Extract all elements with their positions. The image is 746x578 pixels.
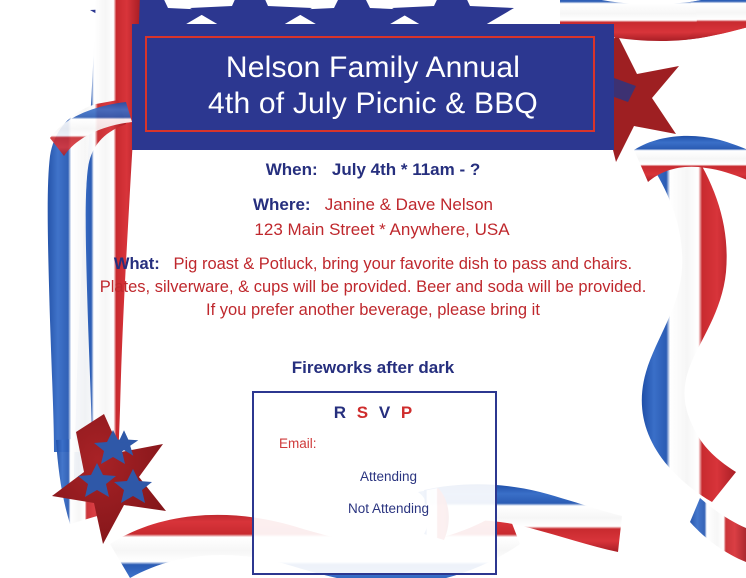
rsvp-letter-s: S: [357, 403, 371, 422]
rsvp-letter-r: R: [334, 403, 349, 422]
title-banner: Nelson Family Annual 4th of July Picnic …: [132, 24, 614, 150]
rsvp-box: R S V P Email: Attending Not Attending: [252, 391, 497, 575]
patriotic-ribbon-lower-left: [56, 438, 104, 524]
rsvp-option-not-attending[interactable]: Not Attending: [254, 501, 495, 516]
when-line: When: July 4th * 11am - ?: [0, 160, 746, 180]
when-value: July 4th * 11am - ?: [332, 160, 480, 179]
invitation-page: Nelson Family Annual 4th of July Picnic …: [0, 0, 746, 578]
banner-title-line2: 4th of July Picnic & BBQ: [132, 86, 614, 122]
what-label: What:: [114, 255, 160, 273]
rsvp-letter-v: V: [379, 403, 393, 422]
rsvp-letter-p: P: [401, 403, 415, 422]
banner-title: Nelson Family Annual 4th of July Picnic …: [132, 50, 614, 122]
fireworks-line: Fireworks after dark: [0, 358, 746, 378]
rsvp-title: R S V P: [254, 403, 495, 423]
where-label: Where:: [253, 195, 311, 214]
red-star-with-blue-stars: [52, 414, 166, 544]
where-line-1: Where: Janine & Dave Nelson: [0, 192, 746, 217]
when-label: When:: [266, 160, 318, 179]
banner-title-line1: Nelson Family Annual: [132, 50, 614, 86]
what-block: What: Pig roast & Potluck, bring your fa…: [96, 253, 650, 322]
what-value: Pig roast & Potluck, bring your favorite…: [100, 255, 647, 319]
where-address: 123 Main Street * Anywhere, USA: [0, 217, 746, 242]
where-block: Where: Janine & Dave Nelson 123 Main Str…: [0, 192, 746, 242]
where-value: Janine & Dave Nelson: [325, 195, 493, 214]
rsvp-email-label[interactable]: Email:: [279, 436, 317, 451]
rsvp-option-attending[interactable]: Attending: [254, 469, 495, 484]
